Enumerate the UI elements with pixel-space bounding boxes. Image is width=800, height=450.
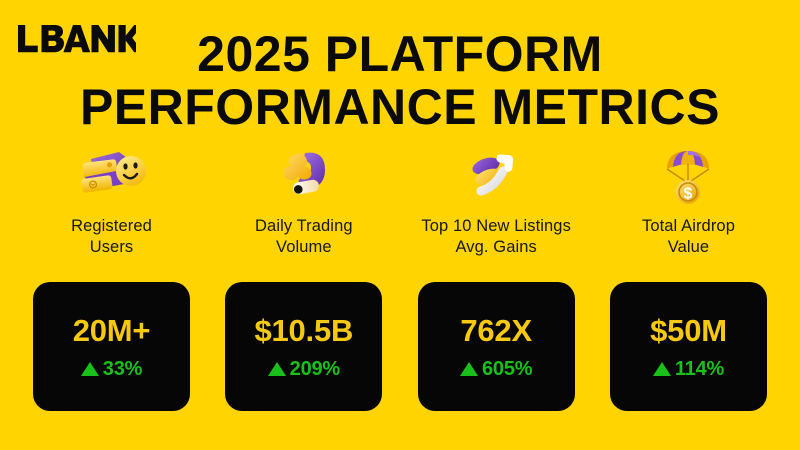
stat-card-new-listings-gains: 762X 605% — [418, 282, 575, 411]
new-listings-gains-icon — [453, 138, 539, 210]
metrics-row: Registered Users — [0, 138, 800, 258]
stat-value: 20M+ — [73, 314, 151, 348]
registered-users-icon — [69, 138, 155, 210]
stat-card-daily-trading-volume: $10.5B 209% — [225, 282, 382, 411]
total-airdrop-value-icon: $ — [645, 138, 731, 210]
triangle-up-icon — [653, 362, 671, 376]
stat-card-registered-users: 20M+ 33% — [33, 282, 190, 411]
stat-delta: 605% — [460, 359, 532, 379]
metric-column-daily-trading-volume: Daily Trading Volume — [225, 138, 382, 258]
stat-value: $10.5B — [254, 314, 353, 348]
triangle-up-icon — [460, 362, 478, 376]
triangle-up-icon — [81, 362, 99, 376]
title-line-2: PERFORMANCE METRICS — [0, 81, 800, 134]
metric-column-new-listings-gains: Top 10 New Listings Avg. Gains — [418, 138, 575, 258]
metric-label: Top 10 New Listings Avg. Gains — [421, 216, 571, 258]
daily-trading-volume-icon — [261, 138, 347, 210]
metric-label: Daily Trading Volume — [255, 216, 353, 258]
metric-label: Registered Users — [71, 216, 152, 258]
stat-delta-value: 114% — [675, 359, 724, 379]
svg-text:$: $ — [684, 186, 693, 203]
stat-delta: 33% — [81, 359, 142, 379]
metric-column-registered-users: Registered Users — [33, 138, 190, 258]
page-title: 2025 PLATFORM PERFORMANCE METRICS — [0, 28, 800, 134]
metric-label: Total Airdrop Value — [642, 216, 735, 258]
stat-delta: 209% — [268, 359, 340, 379]
triangle-up-icon — [268, 362, 286, 376]
title-line-1: 2025 PLATFORM — [0, 28, 800, 81]
metric-column-total-airdrop-value: $ Total Airdrop Value — [610, 138, 767, 258]
stat-card-total-airdrop-value: $50M 114% — [610, 282, 767, 411]
stat-delta-value: 605% — [482, 359, 532, 379]
stat-delta-value: 209% — [290, 359, 340, 379]
stat-cards-row: 20M+ 33% $10.5B 209% 762X 605% $50M 114% — [0, 282, 800, 411]
stat-delta-value: 33% — [103, 359, 142, 379]
stat-delta: 114% — [653, 359, 724, 379]
stat-value: 762X — [460, 314, 532, 348]
stat-value: $50M — [650, 314, 727, 348]
